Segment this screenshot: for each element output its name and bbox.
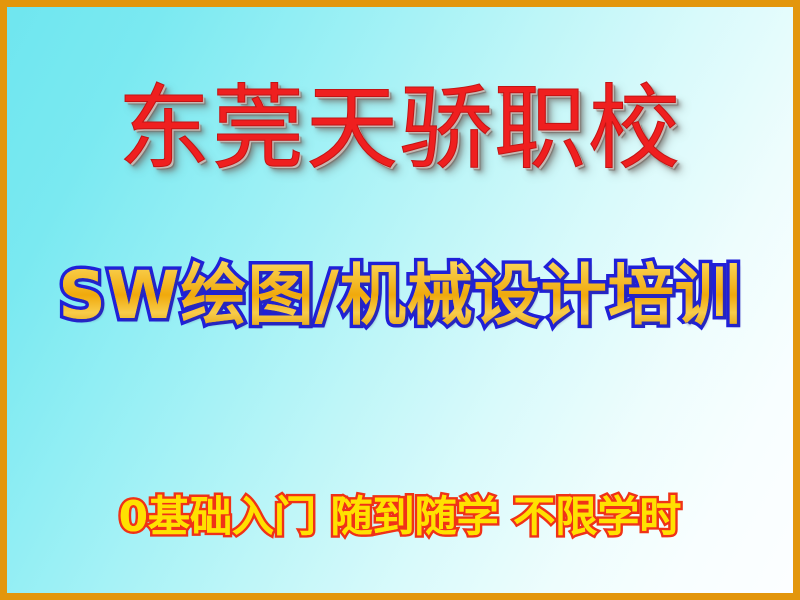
main-title-container: 东莞天骄职校 (7, 81, 793, 178)
tagline-container: 0基础入门 随到随学 不限学时 0基础入门 随到随学 不限学时 (7, 493, 793, 541)
promo-slide: 东莞天骄职校 SW绘图/机械设计培训 SW绘图/机械设计培训 0基础入门 随到随… (0, 0, 800, 600)
course-subtitle-fill: SW绘图/机械设计培训 (58, 260, 741, 333)
slide-content: 东莞天骄职校 SW绘图/机械设计培训 SW绘图/机械设计培训 0基础入门 随到随… (7, 7, 793, 593)
tagline-fill: 0基础入门 随到随学 不限学时 (119, 493, 681, 541)
school-name-title: 东莞天骄职校 (118, 81, 682, 178)
subtitle-container: SW绘图/机械设计培训 SW绘图/机械设计培训 (7, 260, 793, 333)
